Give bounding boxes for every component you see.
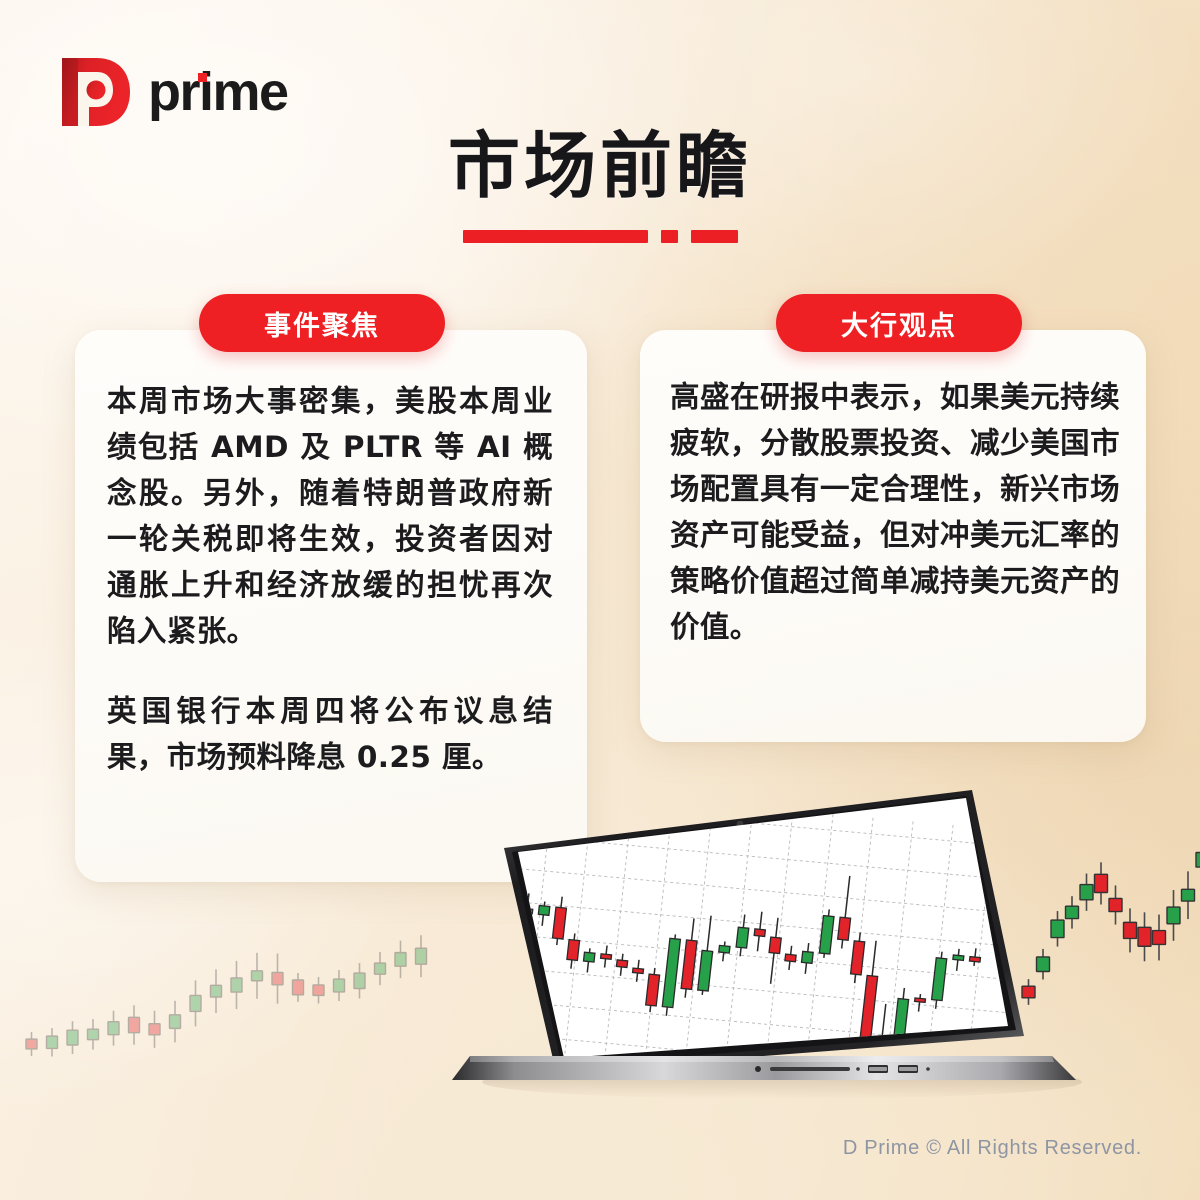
laptop-screen [518, 798, 1008, 1058]
card-bank-views-paragraph-1: 高盛在研报中表示，如果美元持续疲软，分散股票投资、减少美国市场配置具有一定合理性… [670, 374, 1120, 650]
footer-copyright: D Prime © All Rights Reserved. [843, 1137, 1142, 1160]
base-slot-icon [770, 1067, 850, 1071]
rule-segment-mid [691, 230, 738, 243]
left-background-candles [26, 935, 427, 1056]
base-indicator-icon [856, 1067, 860, 1071]
card-bank-views: 高盛在研报中表示，如果美元持续疲软，分散股票投资、减少美国市场配置具有一定合理性… [640, 330, 1146, 742]
laptop-base-highlight [470, 1056, 1054, 1062]
badge-event-focus: 事件聚焦 [199, 294, 445, 352]
card-bank-views-body: 高盛在研报中表示，如果美元持续疲软，分散股票投资、减少美国市场配置具有一定合理性… [640, 330, 1146, 680]
wordmark-i-dot-icon [198, 73, 207, 82]
base-port-dot-icon [755, 1066, 761, 1072]
brand-logo[interactable]: prime [56, 52, 288, 132]
brand-wordmark: prime [148, 65, 288, 119]
card-event-focus-body: 本周市场大事密集，美股本周业绩包括 AMD 及 PLTR 等 AI 概念股。另外… [75, 330, 587, 810]
d-prime-logo-icon [56, 52, 134, 132]
badge-bank-views: 大行观点 [776, 294, 1022, 352]
page-title: 市场前瞻 [0, 128, 1200, 206]
title-block: 市场前瞻 [0, 128, 1200, 243]
brand-wordmark-text: prime [148, 62, 288, 122]
usb-port-2-inner-icon [899, 1067, 917, 1071]
usb-port-1-inner-icon [869, 1067, 887, 1071]
card-event-focus-paragraph-1: 本周市场大事密集，美股本周业绩包括 AMD 及 PLTR 等 AI 概念股。另外… [107, 378, 553, 654]
base-indicator-2-icon [926, 1067, 930, 1071]
poster-canvas: prime 市场前瞻 本周市场大事密集，美股本周业绩包括 AMD 及 PLTR … [0, 0, 1200, 1200]
rule-segment-dot [661, 230, 678, 243]
title-underline-rule [0, 230, 1200, 243]
rule-segment-long [463, 230, 648, 243]
laptop-illustration [452, 790, 1092, 1110]
